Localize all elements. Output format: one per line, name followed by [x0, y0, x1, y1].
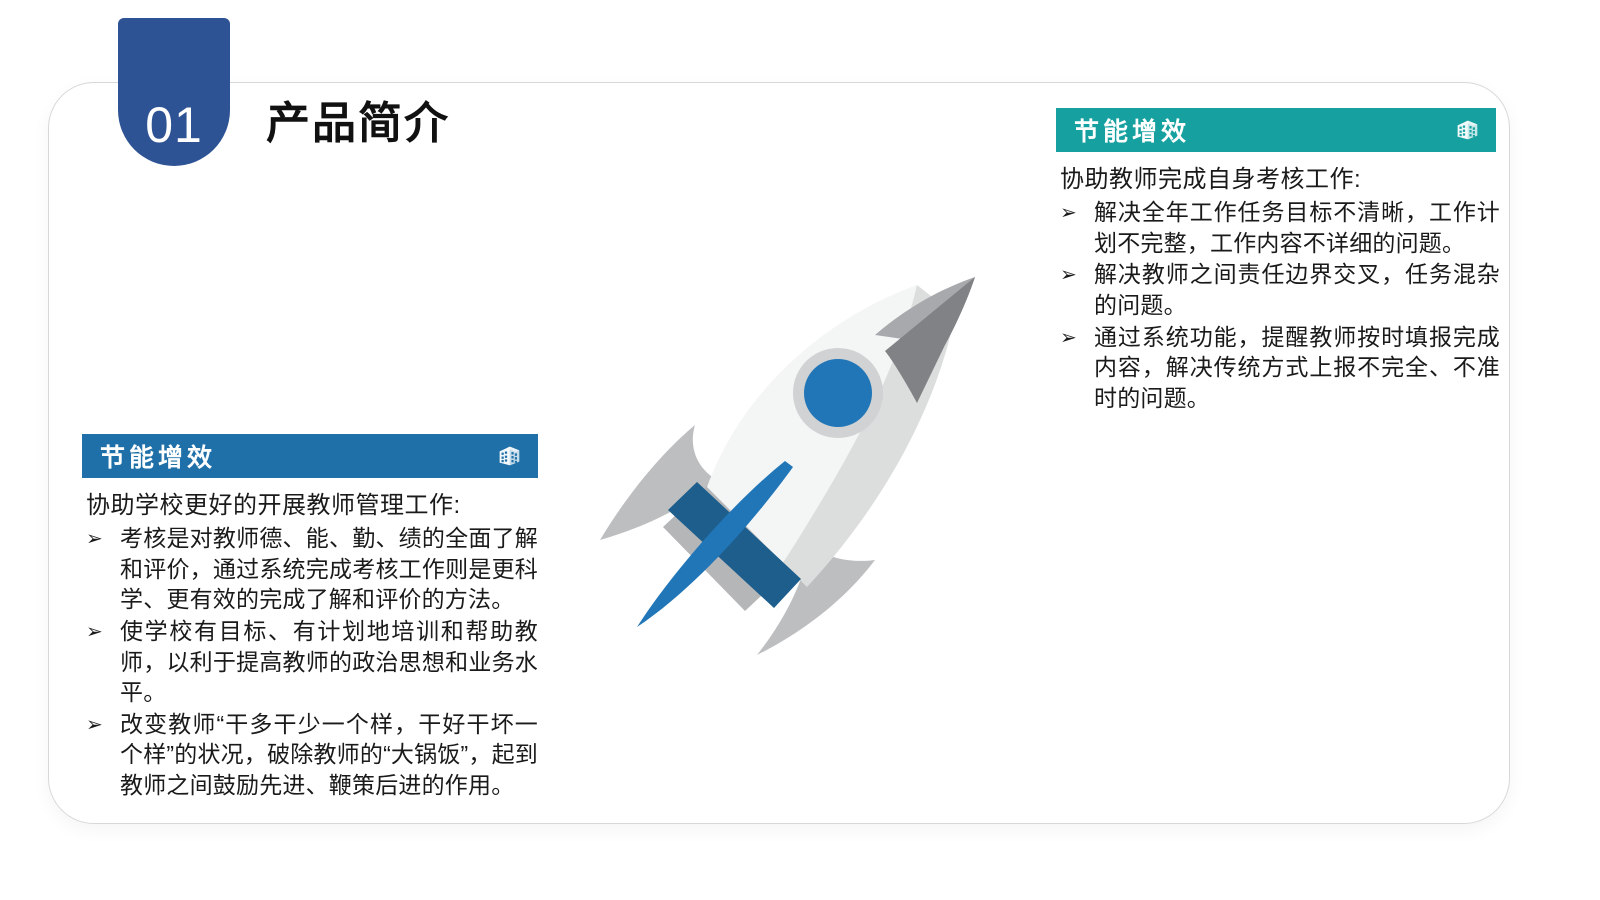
- card-header-title-left: 节能增效: [100, 438, 216, 474]
- bullet-arrow-icon: ➢: [86, 523, 120, 552]
- list-item: ➢ 解决全年工作任务目标不清晰，工作计划不完整，工作内容不详细的问题。: [1060, 197, 1500, 258]
- rocket-porthole: [804, 359, 872, 427]
- bullet-list-right: ➢ 解决全年工作任务目标不清晰，工作计划不完整，工作内容不详细的问题。 ➢ 解决…: [1060, 197, 1500, 413]
- card-header-title-right: 节能增效: [1074, 112, 1190, 148]
- building-icon: [494, 441, 524, 471]
- card-lead-right: 协助教师完成自身考核工作:: [1060, 164, 1500, 195]
- bullet-text: 考核是对教师德、能、勤、绩的全面了解和评价，通过系统完成考核工作则是更科学、更有…: [120, 523, 538, 615]
- list-item: ➢ 使学校有目标、有计划地培训和帮助教师，以利于提高教师的政治思想和业务水平。: [86, 616, 538, 708]
- bullet-arrow-icon: ➢: [1060, 197, 1094, 226]
- bullet-text: 使学校有目标、有计划地培训和帮助教师，以利于提高教师的政治思想和业务水平。: [120, 616, 538, 708]
- card-header-right: 节能增效: [1056, 108, 1496, 152]
- page-title: 产品简介: [266, 99, 450, 150]
- bullet-arrow-icon: ➢: [86, 709, 120, 738]
- bullet-arrow-icon: ➢: [1060, 322, 1094, 351]
- card-body-left: 协助学校更好的开展教师管理工作: ➢ 考核是对教师德、能、勤、绩的全面了解和评价…: [82, 478, 540, 800]
- card-body-right: 协助教师完成自身考核工作: ➢ 解决全年工作任务目标不清晰，工作计划不完整，工作…: [1056, 152, 1502, 413]
- bullet-text: 通过系统功能，提醒教师按时填报完成内容，解决传统方式上报不完全、不准时的问题。: [1094, 322, 1500, 414]
- section-number-badge: 01: [118, 18, 230, 166]
- bullet-arrow-icon: ➢: [86, 616, 120, 645]
- building-icon: [1452, 115, 1482, 145]
- bullet-arrow-icon: ➢: [1060, 259, 1094, 288]
- bullet-text: 解决教师之间责任边界交叉，任务混杂的问题。: [1094, 259, 1500, 320]
- card-lead-left: 协助学校更好的开展教师管理工作:: [86, 490, 538, 521]
- info-card-right: 节能增效 协助教师完成自身考核工作: [1056, 108, 1496, 414]
- list-item: ➢ 考核是对教师德、能、勤、绩的全面了解和评价，通过系统完成考核工作则是更科学、…: [86, 523, 538, 615]
- list-item: ➢ 改变教师“干多干少一个样，干好干坏一个样”的状况，破除教师的“大锅饭”，起到…: [86, 709, 538, 801]
- bullet-list-left: ➢ 考核是对教师德、能、勤、绩的全面了解和评价，通过系统完成考核工作则是更科学、…: [86, 523, 538, 800]
- section-number-label: 01: [118, 100, 230, 150]
- rocket-group: [600, 277, 975, 655]
- rocket-illustration: [545, 275, 1035, 655]
- list-item: ➢ 通过系统功能，提醒教师按时填报完成内容，解决传统方式上报不完全、不准时的问题…: [1060, 322, 1500, 414]
- bullet-text: 改变教师“干多干少一个样，干好干坏一个样”的状况，破除教师的“大锅饭”，起到教师…: [120, 709, 538, 801]
- info-card-left: 节能增效 协助学校更好的开展教师管: [82, 434, 538, 801]
- card-header-left: 节能增效: [82, 434, 538, 478]
- bullet-text: 解决全年工作任务目标不清晰，工作计划不完整，工作内容不详细的问题。: [1094, 197, 1500, 258]
- list-item: ➢ 解决教师之间责任边界交叉，任务混杂的问题。: [1060, 259, 1500, 320]
